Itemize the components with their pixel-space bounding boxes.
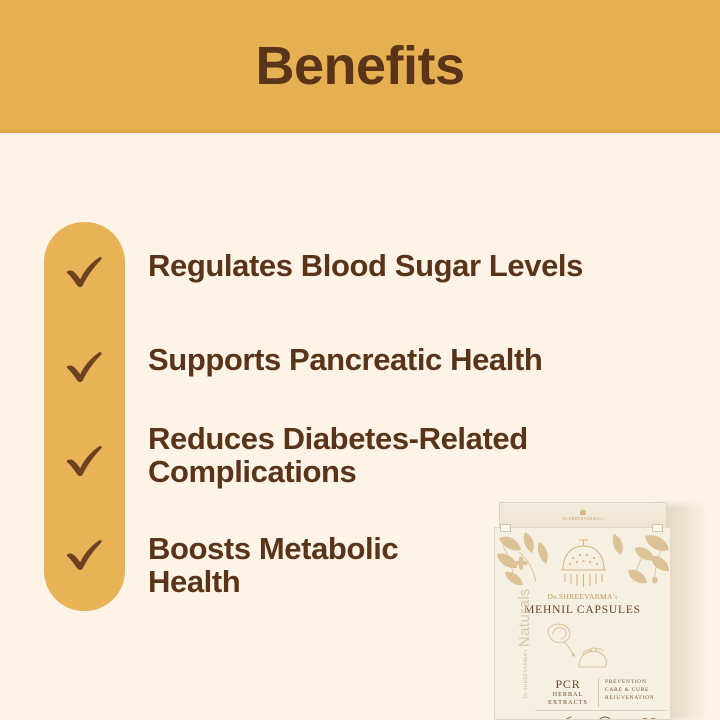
benefit-item: Regulates Blood Sugar Levels — [148, 249, 668, 282]
check-icon — [62, 435, 108, 481]
claim-line-1: PREVENTION — [605, 678, 654, 686]
box-vertical-brand-text: Dr.SHREEVARMA's — [524, 649, 529, 698]
box-info-row: PCR HERBAL EXTRACTS PREVENTION CARE & CU… — [543, 678, 667, 707]
box-system-icons: SIDDHA AYURVEDA — [541, 716, 669, 720]
pcr-line-2: EXTRACTS — [543, 699, 593, 707]
pcr-title: PCR — [543, 678, 593, 691]
claim-line-3: REJUVENATION — [605, 694, 654, 702]
header-band: Benefits — [0, 0, 720, 133]
hand-holding-leaf-icon — [539, 621, 611, 669]
claim-line-2: CARE & CURE — [605, 686, 654, 694]
check-icon — [62, 246, 108, 292]
meditation-icon — [596, 716, 614, 720]
box-claims-block: PREVENTION CARE & CURE REJUVENATION — [599, 678, 654, 702]
pcr-line-1: HERBAL — [543, 691, 593, 699]
check-icon — [62, 341, 108, 387]
box-vertical-brand: Dr.SHREEVARMA'sNaturals — [516, 628, 534, 698]
box-divider — [535, 710, 667, 711]
benefit-item: Boosts Metabolic Health — [148, 532, 448, 599]
page-title: Benefits — [255, 39, 464, 93]
benefits-list: Regulates Blood Sugar Levels Supports Pa… — [148, 222, 668, 611]
box-icon-naturopathy: NATUROPATHY — [629, 716, 669, 720]
benefit-item: Supports Pancreatic Health — [148, 343, 668, 376]
box-icon-ayurveda: AYURVEDA — [585, 716, 625, 720]
heart-leaf-icon — [639, 716, 659, 720]
box-pcr-block: PCR HERBAL EXTRACTS — [543, 678, 599, 707]
check-icon — [62, 529, 108, 575]
mortar-pestle-icon — [550, 716, 572, 720]
checklist-bar — [44, 222, 125, 611]
box-icon-siddha: SIDDHA — [541, 716, 581, 720]
benefit-item: Reduces Diabetes-Related Complications — [148, 422, 598, 489]
